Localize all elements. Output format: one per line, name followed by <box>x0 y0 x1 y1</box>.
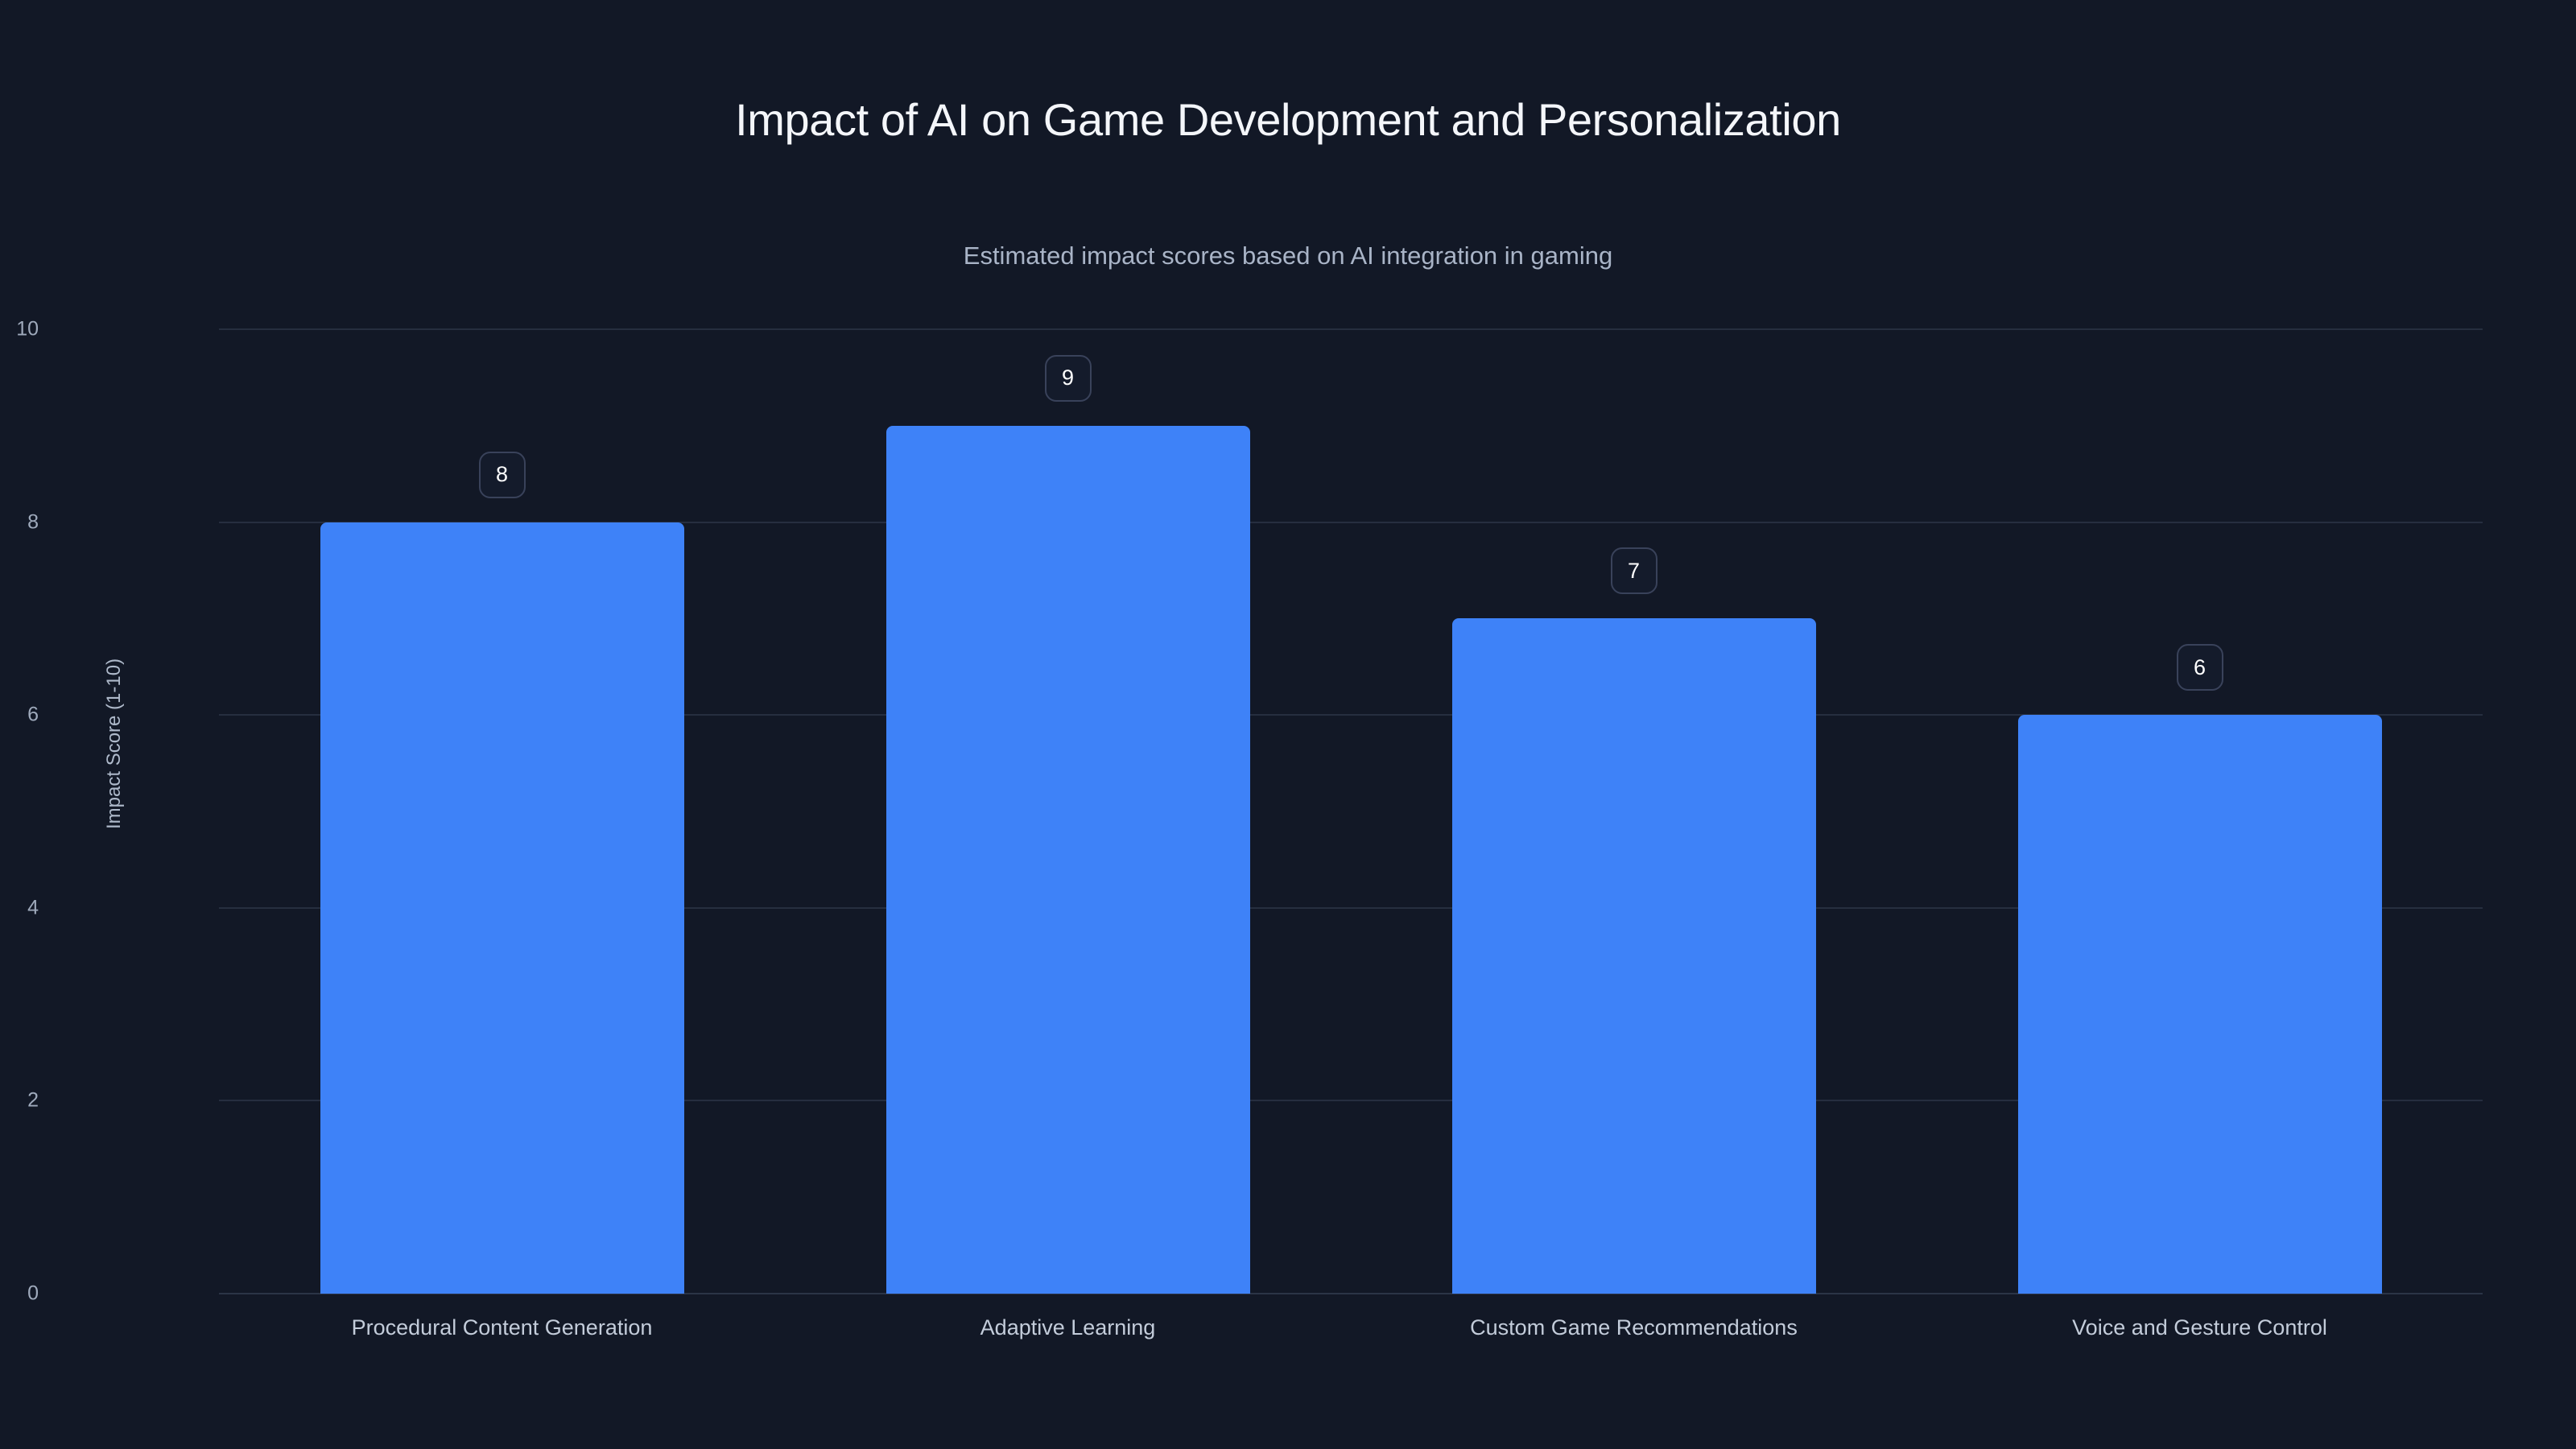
bar[interactable] <box>320 522 684 1294</box>
bars-layer: 8976 <box>219 329 2483 1294</box>
y-tick-label-10: 10 <box>0 318 39 341</box>
y-tick-label-0: 0 <box>0 1282 39 1306</box>
bar-group[interactable]: 8 <box>320 329 684 1294</box>
bar-value-badge: 8 <box>479 452 526 498</box>
bar[interactable] <box>1452 618 1816 1294</box>
bar[interactable] <box>2018 715 2382 1294</box>
x-tick-label: Custom Game Recommendations <box>1470 1315 1798 1340</box>
y-tick-label-6: 6 <box>0 704 39 727</box>
chart-title: Impact of AI on Game Development and Per… <box>0 93 2576 146</box>
y-tick-label-2: 2 <box>0 1089 39 1113</box>
plot-area: 8976 <box>219 329 2483 1294</box>
y-tick-label-8: 8 <box>0 510 39 534</box>
bar-chart-canvas: Impact of AI on Game Development and Per… <box>0 0 2576 1449</box>
x-tick-label: Adaptive Learning <box>980 1315 1156 1340</box>
x-tick-label: Voice and Gesture Control <box>2072 1315 2327 1340</box>
bar-group[interactable]: 6 <box>2018 329 2382 1294</box>
chart-subtitle: Estimated impact scores based on AI inte… <box>0 242 2576 270</box>
y-axis-title: Impact Score (1-10) <box>103 658 126 829</box>
bar-value-badge: 7 <box>1611 547 1657 594</box>
bar-group[interactable]: 9 <box>886 329 1250 1294</box>
x-tick-label: Procedural Content Generation <box>352 1315 653 1340</box>
bar-group[interactable]: 7 <box>1452 329 1816 1294</box>
bar-value-badge: 6 <box>2177 644 2223 691</box>
bar-value-badge: 9 <box>1045 355 1092 402</box>
y-tick-label-4: 4 <box>0 896 39 919</box>
bar[interactable] <box>886 426 1250 1294</box>
